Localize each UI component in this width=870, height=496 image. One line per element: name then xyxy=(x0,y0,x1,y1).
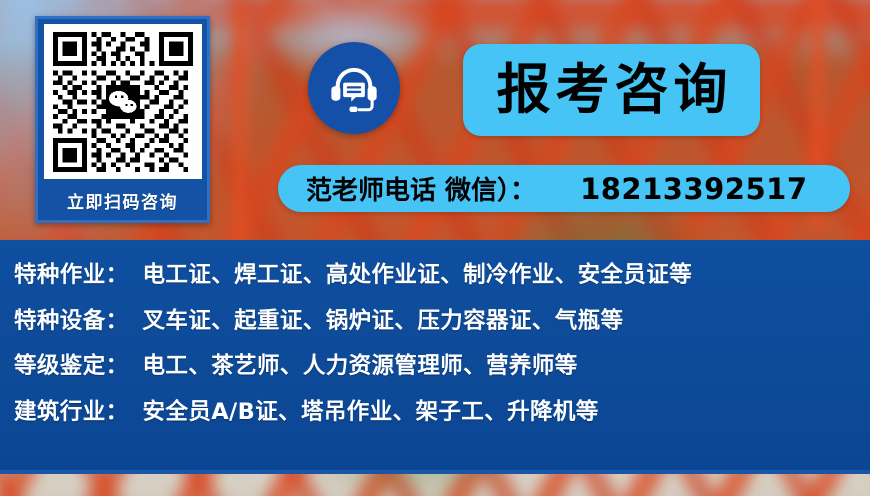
info-row-value: 安全员A/B证、塔吊作业、架子工、升降机等 xyxy=(143,401,599,424)
qr-code-image[interactable] xyxy=(44,24,202,179)
info-row-label: 等级鉴定： xyxy=(14,355,129,378)
info-row-grade-appraisal: 等级鉴定： 电工、茶艺师、人力资源管理师、营养师等 xyxy=(14,355,870,378)
headset-support-badge[interactable] xyxy=(308,42,400,134)
info-row-label: 特种作业： xyxy=(14,264,129,287)
info-row-special-operations: 特种作业： 电工证、焊工证、高处作业证、制冷作业、安全员证等 xyxy=(14,264,870,287)
info-row-value: 电工证、焊工证、高处作业证、制冷作业、安全员证等 xyxy=(143,264,693,287)
crane-beam-decor xyxy=(228,0,254,250)
info-row-construction-industry: 建筑行业： 安全员A/B证、塔吊作业、架子工、升降机等 xyxy=(14,401,870,424)
promo-poster: 立即扫码咨询 报考咨询 范老师电话 微信）： 18213392517 xyxy=(0,0,870,496)
qr-card-caption: 立即扫码咨询 xyxy=(67,188,178,213)
info-row-value: 叉车证、起重证、锅炉证、压力容器证、气瓶等 xyxy=(143,310,624,333)
headline-pill: 报考咨询 xyxy=(463,44,760,136)
info-row-label: 特种设备： xyxy=(14,310,129,333)
services-info-panel: 特种作业： 电工证、焊工证、高处作业证、制冷作业、安全员证等 特种设备： 叉车证… xyxy=(0,240,870,470)
contact-label: 范老师电话 微信）： xyxy=(306,170,536,207)
info-row-value: 电工、茶艺师、人力资源管理师、营养师等 xyxy=(143,355,578,378)
contact-pill[interactable]: 范老师电话 微信）： 18213392517 xyxy=(278,165,850,212)
info-row-special-equipment: 特种设备： 叉车证、起重证、锅炉证、压力容器证、气瓶等 xyxy=(14,310,870,333)
contact-phone-number[interactable]: 18213392517 xyxy=(580,172,807,206)
info-row-label: 建筑行业： xyxy=(14,401,129,424)
page-title: 报考咨询 xyxy=(491,63,733,117)
wechat-qr-code-icon xyxy=(53,32,193,172)
headset-icon xyxy=(325,59,383,117)
qr-code-card[interactable]: 立即扫码咨询 xyxy=(35,16,210,223)
